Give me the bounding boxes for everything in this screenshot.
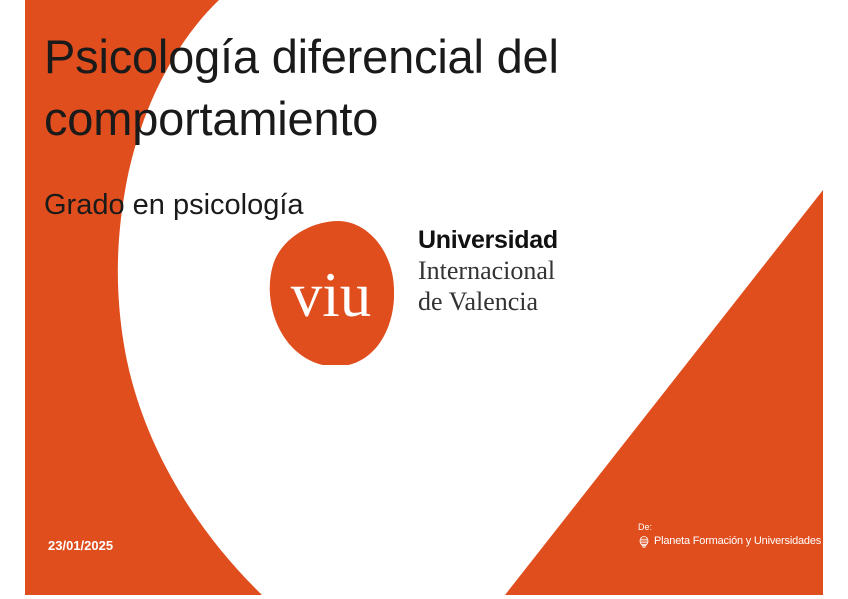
- viu-wordmark: viu: [268, 220, 394, 365]
- title-line-2: comportamiento: [44, 88, 684, 150]
- credit-brand: Planeta Formación y Universidades: [654, 535, 821, 548]
- page-title: Psicología diferencial del comportamient…: [44, 26, 684, 150]
- university-name-line-3: de Valencia: [418, 286, 558, 317]
- subtitle: Grado en psicología: [44, 188, 304, 222]
- university-name-line-1: Universidad: [418, 226, 558, 255]
- credit-block: De: Planeta Formación y Universidades: [638, 521, 821, 548]
- credit-label: De:: [638, 521, 821, 533]
- globe-icon: [638, 536, 650, 548]
- title-line-1: Psicología diferencial del: [44, 26, 684, 88]
- credit-row: Planeta Formación y Universidades: [638, 535, 821, 548]
- presentation-slide: Psicología diferencial del comportamient…: [0, 0, 848, 599]
- university-name-line-2: Internacional: [418, 255, 558, 286]
- date-stamp: 23/01/2025: [48, 537, 140, 554]
- university-name: Universidad Internacional de Valencia: [418, 226, 558, 317]
- viu-logo: viu Universidad Internacional de Valenci…: [268, 220, 608, 370]
